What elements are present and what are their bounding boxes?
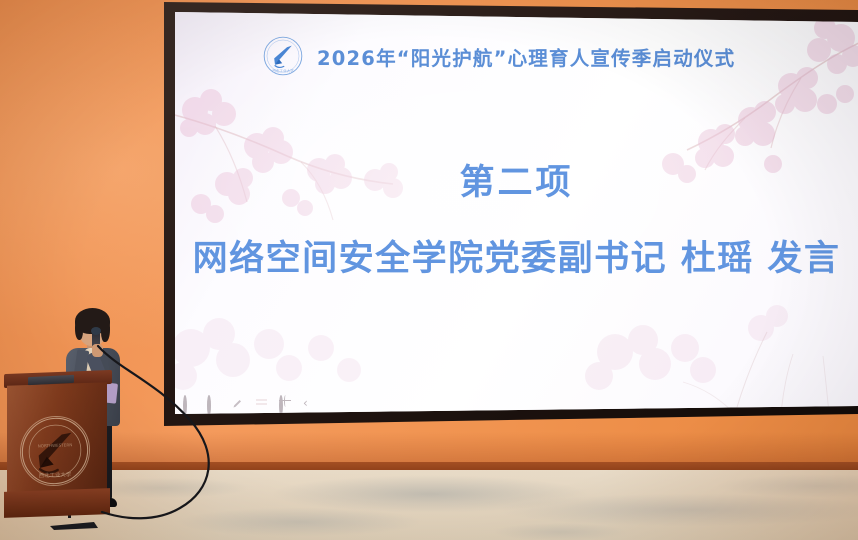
slide-section-label: 第二项 xyxy=(175,154,858,205)
speaker-hand xyxy=(92,344,103,357)
highlight-ring-icon[interactable] xyxy=(207,397,219,409)
previous-slide-chevron-icon[interactable]: ‹ xyxy=(303,397,308,409)
marble-floor xyxy=(0,470,858,540)
presentation-room-photo: 西北工业大学 2026年“阳光护航”心理育人宣传季启动仪式 第二项 网络空间安全… xyxy=(0,0,858,540)
speaking-podium: NORTHWESTERN 西北工业大学 xyxy=(4,372,112,520)
speaker-hair-left xyxy=(75,318,83,340)
pencil-icon[interactable] xyxy=(231,397,243,409)
podium-base xyxy=(4,488,110,518)
slide-header-title: 2026年“阳光护航”心理育人宣传季启动仪式 xyxy=(317,42,735,71)
powerpoint-presenter-toolbar[interactable]: ‹ xyxy=(183,397,308,409)
handheld-microphone-head xyxy=(91,327,101,335)
slide-card-icon[interactable] xyxy=(255,397,267,409)
projection-screen-display[interactable]: 西北工业大学 2026年“阳光护航”心理育人宣传季启动仪式 第二项 网络空间安全… xyxy=(175,12,858,414)
speaker-hair-right xyxy=(101,318,110,342)
floor-warm-reflection xyxy=(0,470,858,540)
slide-header: 西北工业大学 2026年“阳光护航”心理育人宣传季启动仪式 xyxy=(263,36,735,76)
svg-text:NORTHWESTERN: NORTHWESTERN xyxy=(38,442,73,448)
pen-ring-icon[interactable] xyxy=(183,397,195,409)
npu-emblem-icon: 西北工业大学 xyxy=(263,36,303,76)
slide-speaker-line: 网络空间安全学院党委副书记 杜瑶 发言 xyxy=(175,230,858,281)
globe-icon[interactable] xyxy=(279,397,291,409)
svg-text:西北工业大学: 西北工业大学 xyxy=(272,68,294,73)
